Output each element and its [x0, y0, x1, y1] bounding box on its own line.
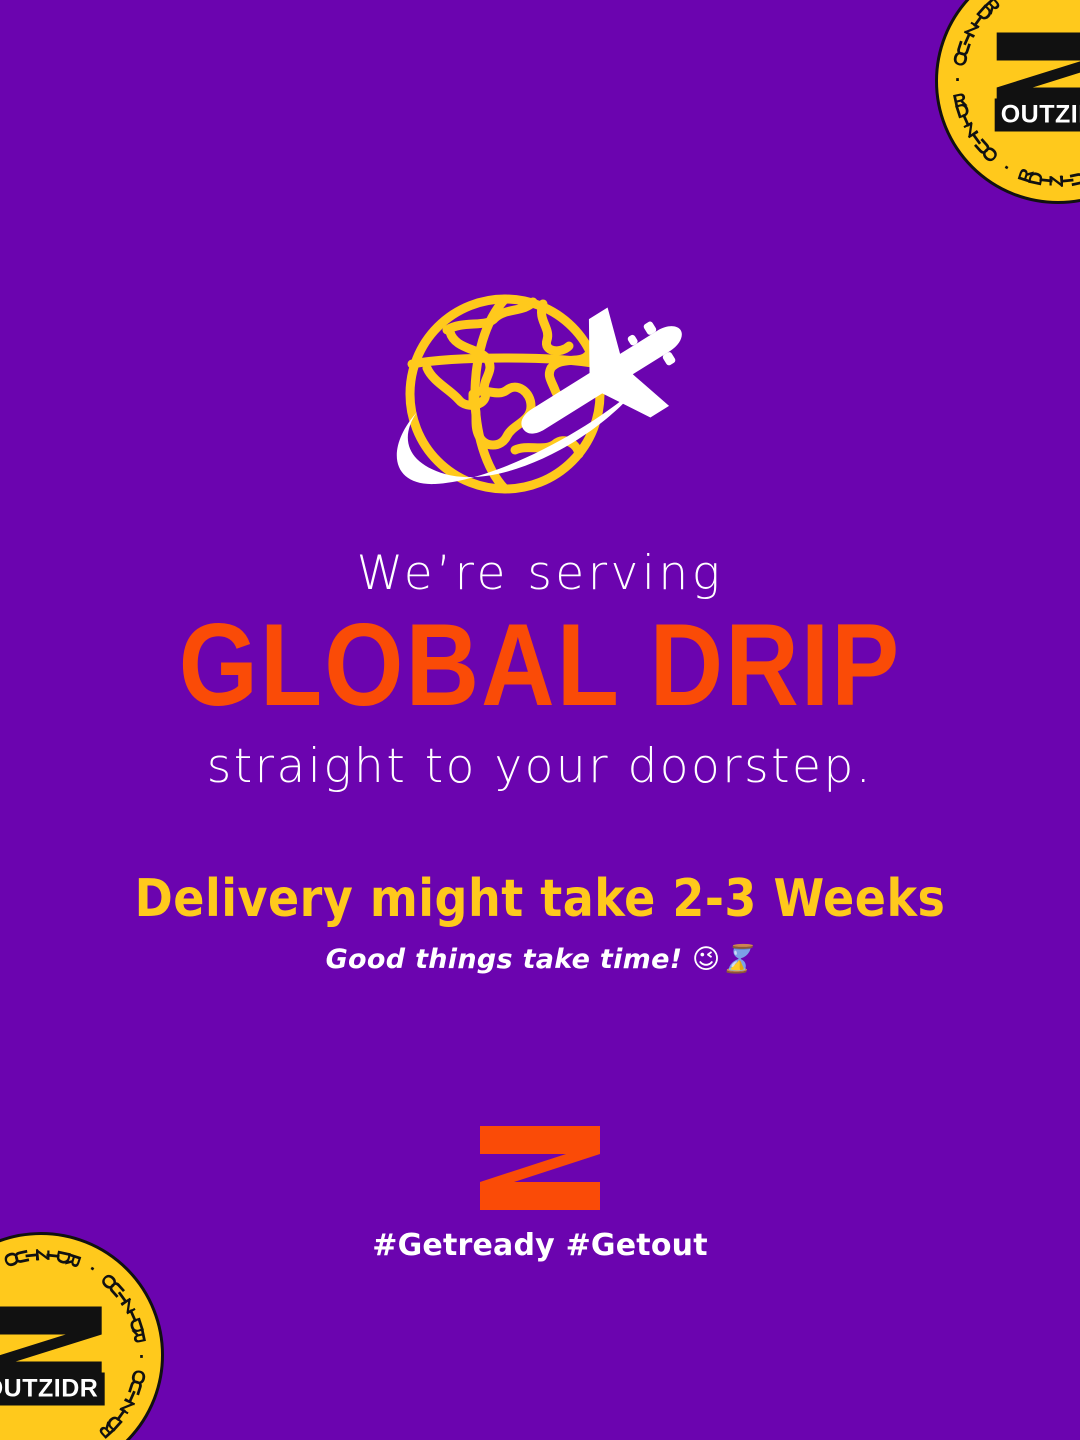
badge-ring-char: R: [951, 90, 969, 114]
badge-ring-char: ·: [138, 1344, 144, 1366]
badge-wordmark-suffix: IDR: [1071, 101, 1080, 129]
outzidr-z-logo: [478, 1124, 602, 1212]
badge-ring-char: R: [59, 1250, 84, 1270]
delivery-note-text: Delivery might take 2-3 Weeks: [0, 870, 1080, 927]
hashtags-text: #Getready #Getout: [372, 1228, 707, 1263]
eyebrow-text: We’re serving: [0, 548, 1080, 600]
copy-block: We’re serving GLOBAL DRIP straight to yo…: [0, 548, 1080, 975]
badge-wordmark-bottom-left: OUTZIDR: [0, 1373, 104, 1406]
badge-ring-char: ·: [955, 70, 961, 92]
badge-wordmark-top-right: OUTZIDR: [995, 99, 1080, 132]
badge-wordmark-suffix: IDR: [54, 1375, 99, 1403]
badge-wordmark-z: Z: [38, 1375, 54, 1403]
reassurance-text: Good things take time! 😉⌛: [0, 945, 1080, 975]
badge-wordmark-z: Z: [1055, 101, 1071, 129]
badge-wordmark-prefix: OUT: [0, 1375, 38, 1403]
badge-core-bottom-left: OUTZIDR: [0, 1305, 104, 1406]
globe-icon: [355, 272, 715, 512]
subhead-text: straight to your doorstep.: [0, 741, 1080, 793]
globe-airplane-illustration: [355, 272, 715, 512]
badge-core-top-right: OUTZIDR: [995, 31, 1080, 132]
badge-ring-char: ·: [80, 1433, 102, 1440]
badge-ring-char: R: [130, 1322, 148, 1346]
badge-ring-char: ·: [997, 159, 1019, 175]
badge-wordmark-prefix: OUT: [1001, 101, 1055, 129]
outzidr-stamp-top-right: OUTZIDR·OUTZIDR·OUTZIDR·OUTZIDR·OUTZIDR·…: [935, 0, 1080, 204]
poster-canvas: We’re serving GLOBAL DRIP straight to yo…: [0, 0, 1080, 1440]
outzidr-stamp-bottom-left: OUTZIDR·OUTZIDR·OUTZIDR·OUTZIDR·OUTZIDR·…: [0, 1232, 164, 1440]
badge-ring-char: ·: [997, 0, 1019, 3]
headline-text: GLOBAL DRIP: [0, 600, 1080, 731]
footer-block: #Getready #Getout: [0, 1124, 1080, 1263]
